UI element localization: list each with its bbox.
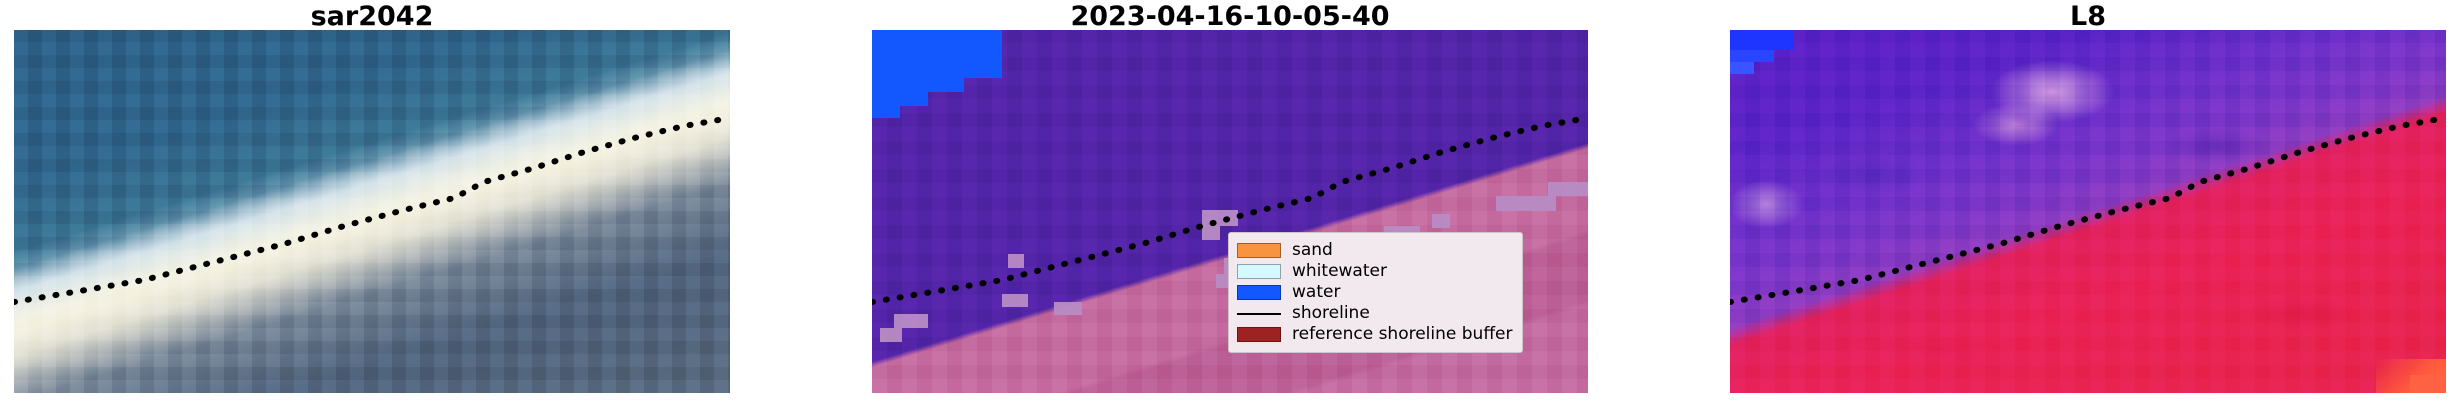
classification-speck <box>1548 182 1588 196</box>
classification-water-class-region <box>872 30 1002 78</box>
reference-buffer-swatch-icon <box>1237 327 1281 342</box>
l8-water-step-1 <box>1730 50 1774 62</box>
classification-water-class-step-1 <box>872 78 964 92</box>
classification-water-class-step-3 <box>872 106 900 118</box>
panel-l8-axes <box>1730 30 2446 393</box>
panel-l8: L8 <box>1730 0 2446 409</box>
classification-speck <box>894 314 928 328</box>
classification-speck <box>1054 302 1082 315</box>
l8-water-step-2 <box>1730 62 1754 74</box>
whitewater-swatch-icon <box>1237 264 1281 279</box>
l8-water-region <box>1730 30 1794 50</box>
classification-speck <box>1008 254 1024 268</box>
classification-speck <box>1202 210 1238 226</box>
legend-label: reference shoreline buffer <box>1292 324 1513 345</box>
sar2042-raster-pixel-noise <box>14 30 730 393</box>
classification-speck <box>1002 294 1028 307</box>
shoreline-line-icon <box>1237 306 1281 321</box>
panel-classification-axes: sand whitewater water shoreline referenc… <box>872 30 1588 393</box>
shoreline-detection-figure: sar2042 2023-04-16-10-05-40 <box>0 0 2460 409</box>
legend-label: shoreline <box>1292 303 1370 324</box>
legend-item-water: water <box>1237 282 1513 303</box>
water-swatch-icon <box>1237 285 1281 300</box>
legend-label: whitewater <box>1292 261 1387 282</box>
classification-speck <box>880 328 902 342</box>
panel-classification-title: 2023-04-16-10-05-40 <box>872 2 1588 32</box>
classification-speck <box>1496 196 1556 211</box>
l8-raster-pixel-noise <box>1730 30 2446 393</box>
classification-speck <box>1202 226 1220 240</box>
panel-sar2042-title: sar2042 <box>14 2 730 32</box>
l8-hot-corner-core <box>2410 375 2446 393</box>
sand-swatch-icon <box>1237 243 1281 258</box>
legend: sand whitewater water shoreline referenc… <box>1228 232 1523 353</box>
legend-item-whitewater: whitewater <box>1237 261 1513 282</box>
panel-classification: 2023-04-16-10-05-40 <box>872 0 1588 409</box>
legend-label: sand <box>1292 240 1333 261</box>
classification-water-class-step-2 <box>872 92 928 106</box>
panel-l8-title: L8 <box>1730 2 2446 32</box>
legend-item-reference-shoreline-buffer: reference shoreline buffer <box>1237 324 1513 345</box>
legend-item-sand: sand <box>1237 240 1513 261</box>
panel-sar2042: sar2042 <box>14 0 730 409</box>
legend-item-shoreline: shoreline <box>1237 303 1513 324</box>
classification-speck <box>1432 214 1450 228</box>
panel-sar2042-axes <box>14 30 730 393</box>
legend-label: water <box>1292 282 1340 303</box>
